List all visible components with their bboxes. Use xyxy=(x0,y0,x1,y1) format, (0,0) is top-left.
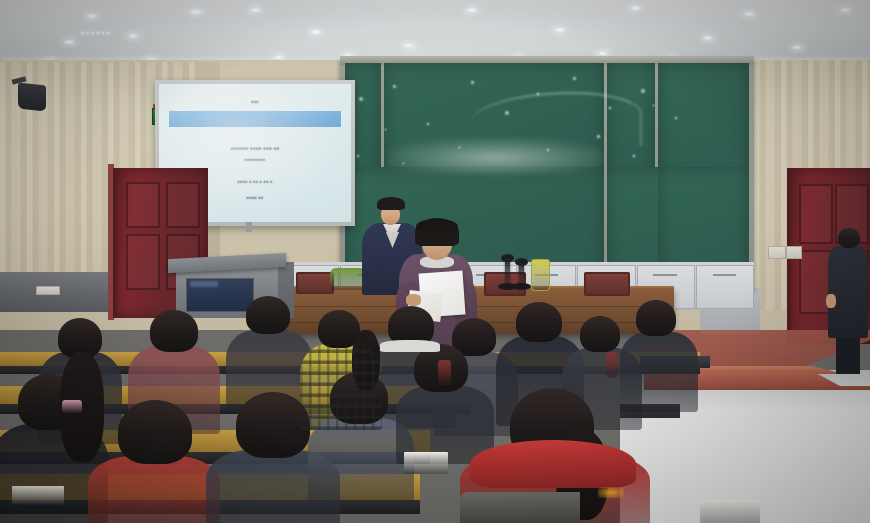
jacket-logo-icon xyxy=(598,487,624,498)
red-thermos-2 xyxy=(606,352,618,378)
pink-thermos xyxy=(62,400,82,414)
red-thermos xyxy=(438,360,451,388)
notebook-2 xyxy=(12,486,64,506)
desk-items xyxy=(0,0,870,523)
notebook-1 xyxy=(404,452,448,474)
notebook-3 xyxy=(700,500,760,523)
classroom-photo: ■■■■■■ ■■■■■■■■■ ■■■■ ■■■ ■■■■■■■■■■■■■■… xyxy=(0,0,870,523)
